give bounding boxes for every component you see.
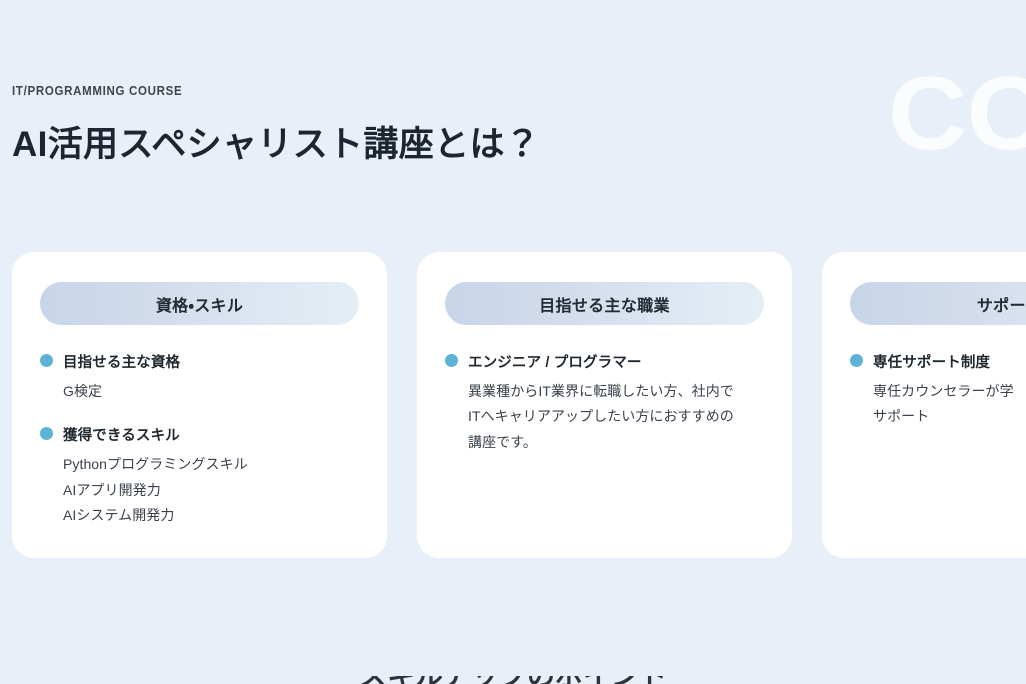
card-section-line: Pythonプログラミングスキル [63, 452, 359, 477]
info-card: 資格・スキル 目指せる主な資格 G検定 獲得できるスキル Pythonプログラミ… [12, 252, 387, 558]
below-fold-heading-text: スキルアップのポイント [359, 676, 667, 684]
card-section-body: 異業種からIT業界に転職したい方、社内でITへキャリアアップしたい方におすすめの… [445, 379, 764, 455]
card-section-title: 目指せる主な資格 [63, 351, 180, 372]
card-header-label: サポート [977, 292, 1026, 316]
page-header: IT/PROGRAMMING COURSE AI活用スペシャリスト講座とは？ [12, 84, 540, 190]
below-fold-clipped-heading: スキルアップのポイント [0, 676, 1026, 684]
card-header-label: 資格・スキル [156, 292, 243, 316]
card-section-line: AIアプリ開発力 [63, 478, 359, 503]
page-root: COU IT/PROGRAMMING COURSE AI活用スペシャリスト講座と… [0, 0, 1026, 684]
card-section-paragraph: 異業種からIT業界に転職したい方、社内でITへキャリアアップしたい方におすすめの… [468, 379, 740, 455]
card-section-line: 専任カウンセラーが学 [873, 379, 1026, 404]
card-header-pill: サポート [850, 282, 1026, 325]
card-section-line: サポート [873, 404, 1026, 429]
card-section: 専任サポート制度 専任カウンセラーが学 サポート [850, 351, 1026, 430]
card-header-pill: 資格・スキル [40, 282, 359, 325]
course-watermark-text: COU [888, 62, 1026, 166]
bullet-dot-icon [40, 427, 53, 440]
page-title: AI活用スペシャリスト講座とは？ [12, 116, 540, 167]
card-section-body: 専任カウンセラーが学 サポート [850, 379, 1026, 430]
card-section-heading: 目指せる主な資格 [40, 351, 359, 372]
info-card: サポート 専任サポート制度 専任カウンセラーが学 サポート [822, 252, 1026, 558]
card-section-title: エンジニア / プログラマー [468, 351, 642, 372]
card-section-title: 専任サポート制度 [873, 351, 990, 372]
card-section: エンジニア / プログラマー 異業種からIT業界に転職したい方、社内でITへキャ… [445, 351, 764, 455]
bullet-dot-icon [445, 354, 458, 367]
card-section-title: 獲得できるスキル [63, 424, 180, 445]
card-section: 獲得できるスキル Pythonプログラミングスキル AIアプリ開発力 AIシステ… [40, 424, 359, 528]
info-card-list: 資格・スキル 目指せる主な資格 G検定 獲得できるスキル Pythonプログラミ… [12, 252, 1026, 558]
bullet-dot-icon [850, 354, 863, 367]
card-section-line: G検定 [63, 379, 359, 404]
card-section-heading: 獲得できるスキル [40, 424, 359, 445]
eyebrow-label: IT/PROGRAMMING COURSE [12, 84, 498, 98]
card-section-body: G検定 [40, 379, 359, 404]
bullet-dot-icon [40, 354, 53, 367]
info-card: 目指せる主な職業 エンジニア / プログラマー 異業種からIT業界に転職したい方… [417, 252, 792, 558]
card-section-body: Pythonプログラミングスキル AIアプリ開発力 AIシステム開発力 [40, 452, 359, 528]
card-header-label: 目指せる主な職業 [539, 292, 670, 316]
card-header-pill: 目指せる主な職業 [445, 282, 764, 325]
card-section: 目指せる主な資格 G検定 [40, 351, 359, 404]
card-section-heading: エンジニア / プログラマー [445, 351, 764, 372]
card-section-heading: 専任サポート制度 [850, 351, 1026, 372]
card-section-line: AIシステム開発力 [63, 503, 359, 528]
